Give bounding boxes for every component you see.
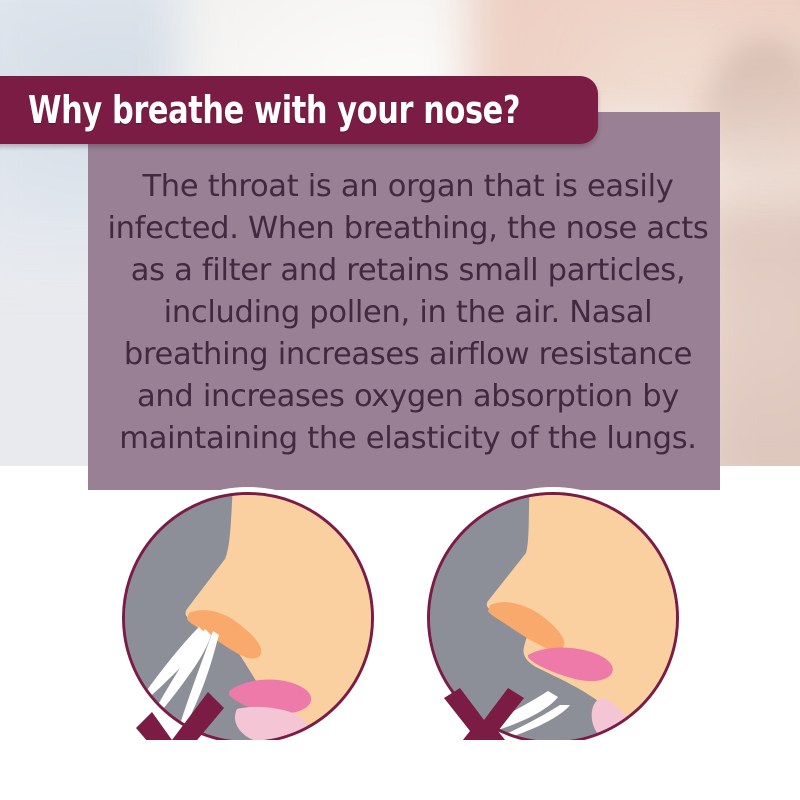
title-banner: Why breathe with your nose? — [0, 76, 598, 144]
page-title: Why breathe with your nose? — [28, 88, 520, 132]
body-paragraph: The throat is an organ that is easily in… — [104, 166, 712, 460]
bottom-band — [0, 740, 800, 800]
poster: Why breathe with your nose? The throat i… — [0, 0, 800, 800]
